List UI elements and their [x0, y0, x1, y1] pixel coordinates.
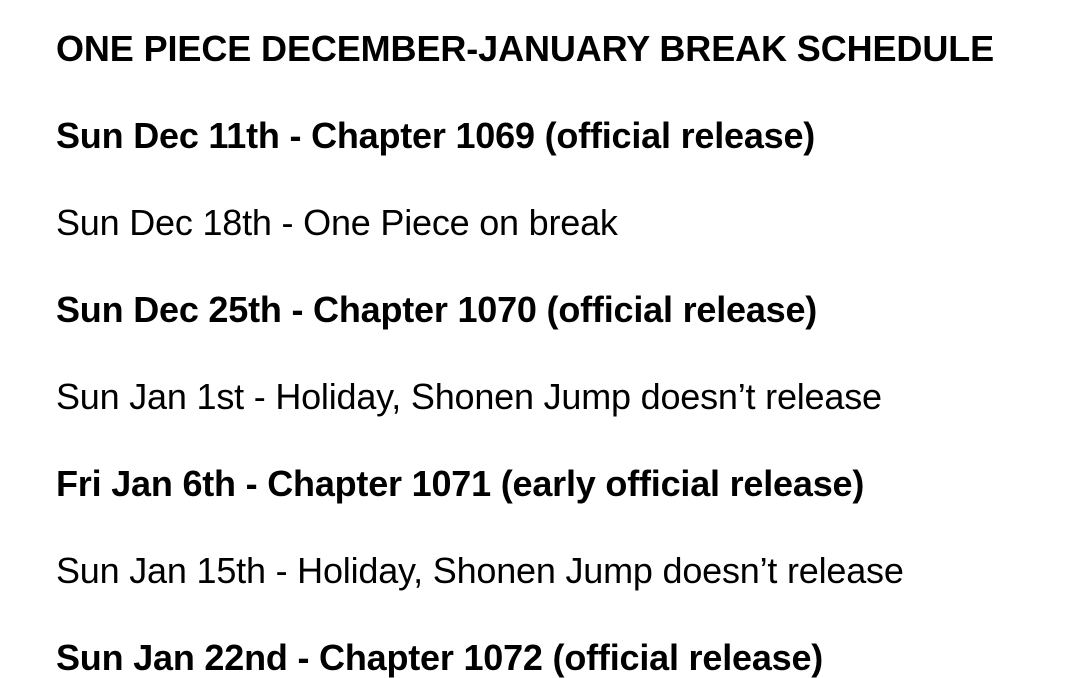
schedule-entry-dec-18: Sun Dec 18th - One Piece on break: [56, 154, 1080, 241]
schedule-list: Sun Dec 11th - Chapter 1069 (official re…: [56, 67, 1080, 676]
page-title: ONE PIECE DECEMBER-JANUARY BREAK SCHEDUL…: [56, 0, 1080, 67]
schedule-entry-dec-11: Sun Dec 11th - Chapter 1069 (official re…: [56, 67, 1080, 154]
schedule-entry-dec-25: Sun Dec 25th - Chapter 1070 (official re…: [56, 241, 1080, 328]
schedule-entry-jan-6: Fri Jan 6th - Chapter 1071 (early offici…: [56, 415, 1080, 502]
schedule-entry-jan-1: Sun Jan 1st - Holiday, Shonen Jump doesn…: [56, 328, 1080, 415]
schedule-document: ONE PIECE DECEMBER-JANUARY BREAK SCHEDUL…: [0, 0, 1080, 670]
schedule-entry-jan-22: Sun Jan 22nd - Chapter 1072 (official re…: [56, 589, 1080, 676]
schedule-entry-jan-15: Sun Jan 15th - Holiday, Shonen Jump does…: [56, 502, 1080, 589]
